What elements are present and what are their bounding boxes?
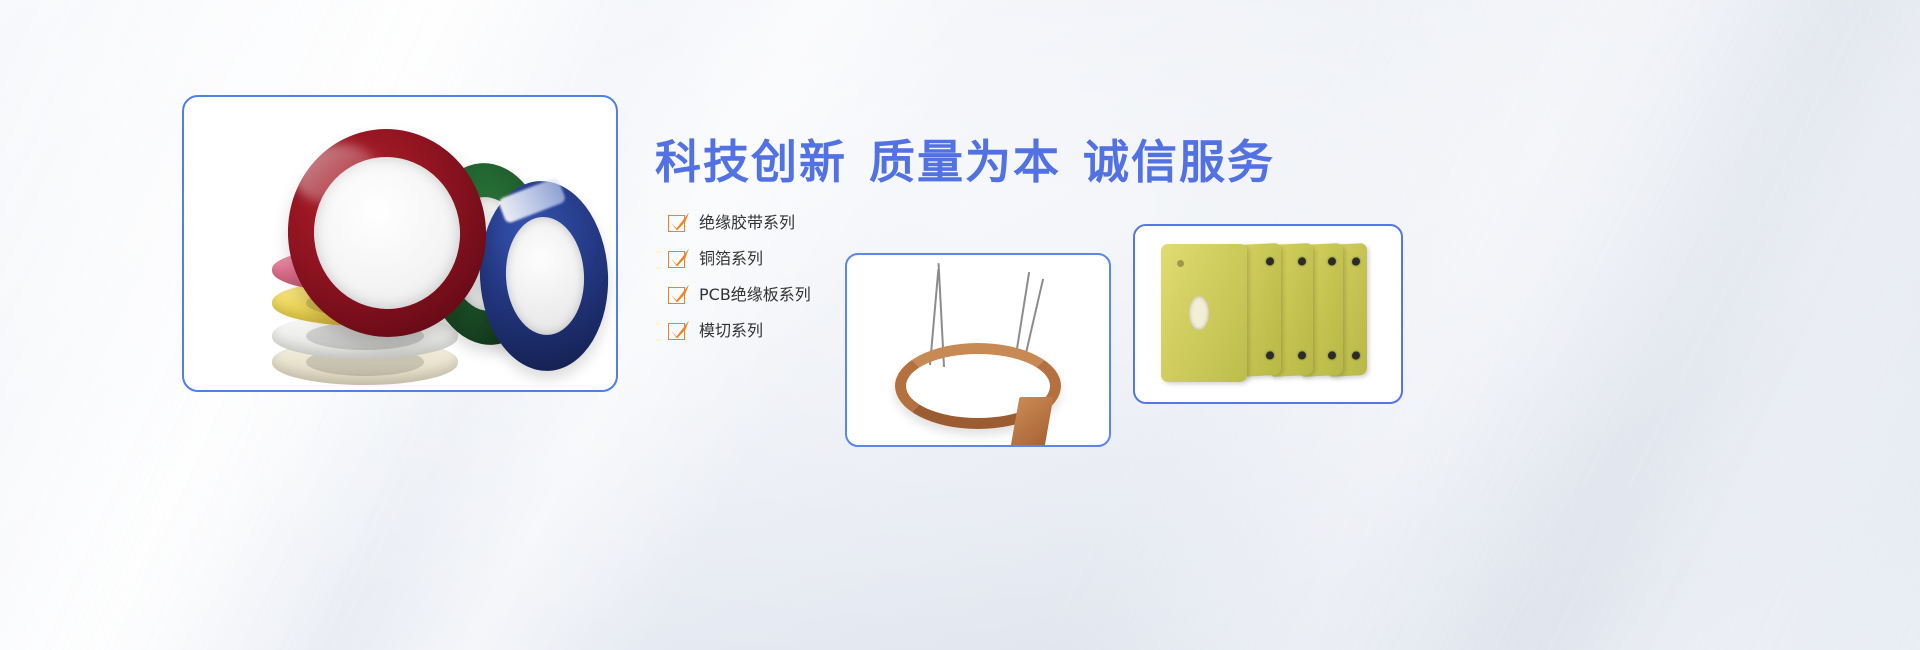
promo-banner: 科技创新质量为本诚信服务 绝缘胶带系列 铜箔系列 <box>0 0 1920 650</box>
headline-segment-3: 诚信服务 <box>1083 135 1275 189</box>
list-item[interactable]: PCB绝缘板系列 <box>668 277 811 313</box>
list-item-label: 铜箔系列 <box>699 251 763 267</box>
product-image-card-copper-foil[interactable] <box>845 253 1111 447</box>
list-item-label: PCB绝缘板系列 <box>699 287 811 303</box>
board-slot-cutout <box>1189 296 1209 330</box>
product-image-card-fr4-boards[interactable] <box>1133 224 1403 404</box>
fr4-board-stack <box>1161 244 1371 384</box>
list-item[interactable]: 绝缘胶带系列 <box>668 205 811 241</box>
tape-rolls-photo <box>184 97 616 390</box>
copper-foil-photo <box>847 255 1109 445</box>
copper-foil-coil <box>895 343 1061 429</box>
headline-segment-1: 科技创新 <box>655 135 847 189</box>
shadow-band-decoration <box>1332 0 1920 650</box>
product-series-list: 绝缘胶带系列 铜箔系列 PCB绝缘板系列 <box>668 205 811 349</box>
banner-headline: 科技创新质量为本诚信服务 <box>655 126 1275 192</box>
fr4-boards-photo <box>1135 226 1401 402</box>
list-item[interactable]: 铜箔系列 <box>668 241 811 277</box>
list-item[interactable]: 模切系列 <box>668 313 811 349</box>
fr4-board-front <box>1161 244 1247 382</box>
list-item-label: 模切系列 <box>699 323 763 339</box>
checkbox-checked-icon <box>668 323 685 340</box>
checkbox-checked-icon <box>668 215 685 232</box>
checkbox-checked-icon <box>668 251 685 268</box>
headline-segment-2: 质量为本 <box>869 135 1061 189</box>
list-item-label: 绝缘胶带系列 <box>699 215 795 231</box>
product-image-card-tapes[interactable] <box>182 95 618 392</box>
checkbox-checked-icon <box>668 287 685 304</box>
